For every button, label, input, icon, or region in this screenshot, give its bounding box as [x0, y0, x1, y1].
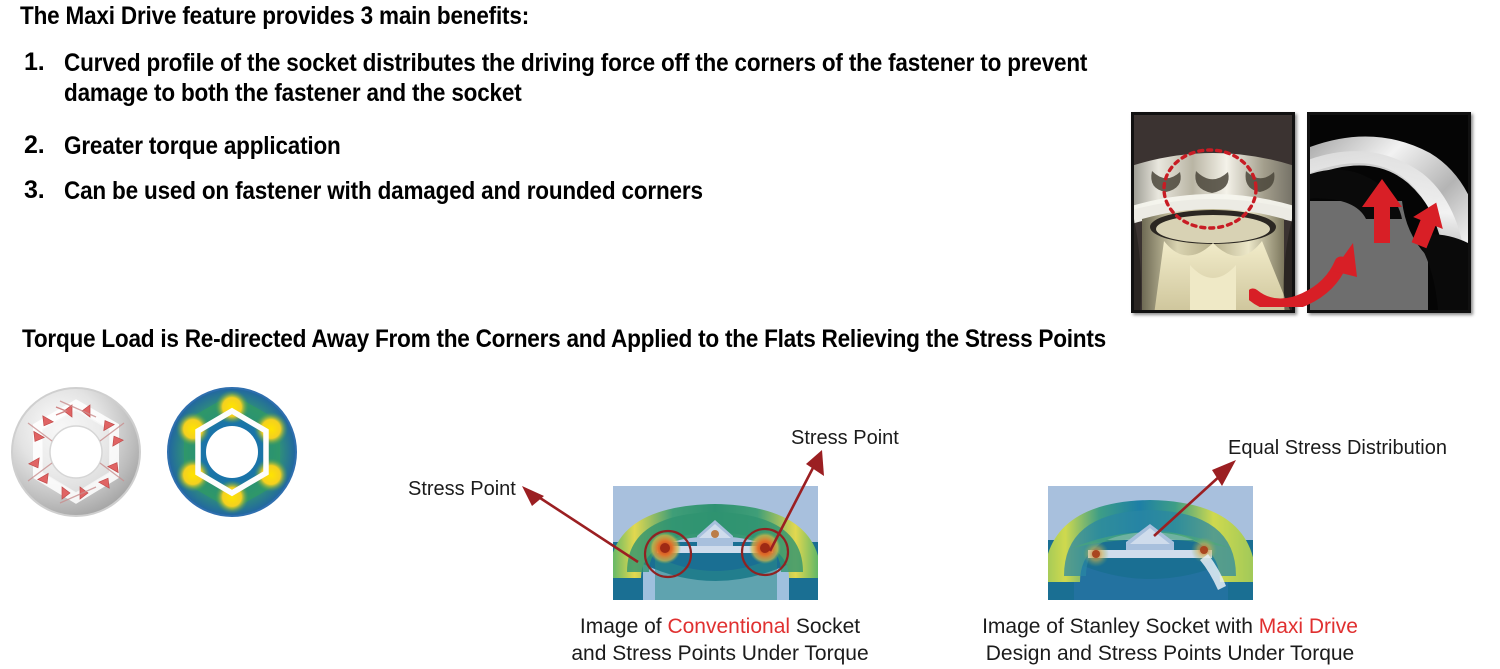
page-title: The Maxi Drive feature provides 3 main b…	[20, 2, 586, 31]
benefit-1-line-2: damage to both the fastener and the sock…	[64, 78, 522, 108]
benefit-3-line-1: Can be used on fastener with damaged and…	[64, 176, 703, 206]
section-heading: Torque Load is Re-directed Away From the…	[22, 325, 1220, 354]
caption-maxi-highlight: Maxi Drive	[1259, 615, 1358, 638]
caption-conv-line2: and Stress Points Under Torque	[571, 642, 868, 665]
benefit-2-line-1: Greater torque application	[64, 131, 341, 161]
caption-maxi-line2: Design and Stress Points Under Torque	[986, 642, 1354, 665]
caption-maxi-pre: Image of Stanley Socket with	[982, 615, 1259, 638]
annotation-stress-point-right: Stress Point	[791, 427, 899, 450]
benefit-number-1: 1.	[24, 48, 58, 77]
benefit-item-1: 1. Curved profile of the socket distribu…	[24, 48, 1484, 108]
maxi-drive-cad-diagram	[1307, 112, 1471, 313]
fea-conventional-socket-image	[613, 486, 818, 600]
annotation-equal-stress: Equal Stress Distribution	[1228, 437, 1447, 460]
caption-conventional: Image of Conventional Socket and Stress …	[540, 613, 900, 668]
benefit-text-2: Greater torque application	[64, 131, 371, 161]
caption-conv-post: Socket	[790, 615, 860, 638]
page-title-text: The Maxi Drive feature provides 3 main b…	[20, 2, 529, 31]
fea-maxi-drive-socket-image	[1048, 486, 1253, 600]
annotation-stress-point-left: Stress Point	[408, 478, 516, 501]
benefit-number-3: 3.	[24, 176, 58, 205]
socket-closeup-photo	[1131, 112, 1295, 313]
caption-conv-pre: Image of	[580, 615, 668, 638]
benefit-text-1: Curved profile of the socket distributes…	[64, 48, 1484, 108]
conventional-socket-force-ring	[8, 383, 144, 521]
benefit-1-line-1: Curved profile of the socket distributes…	[64, 48, 1087, 78]
benefit-text-3: Can be used on fastener with damaged and…	[64, 176, 774, 206]
benefit-item-3: 3. Can be used on fastener with damaged …	[24, 176, 774, 206]
benefit-item-2: 2. Greater torque application	[24, 131, 371, 161]
benefit-number-2: 2.	[24, 131, 58, 160]
caption-conv-highlight: Conventional	[667, 615, 790, 638]
section-heading-text: Torque Load is Re-directed Away From the…	[22, 325, 1106, 354]
caption-maxi-drive: Image of Stanley Socket with Maxi Drive …	[940, 613, 1400, 668]
socket-photo-group	[1131, 112, 1465, 307]
maxi-drive-stress-ring	[164, 383, 300, 521]
